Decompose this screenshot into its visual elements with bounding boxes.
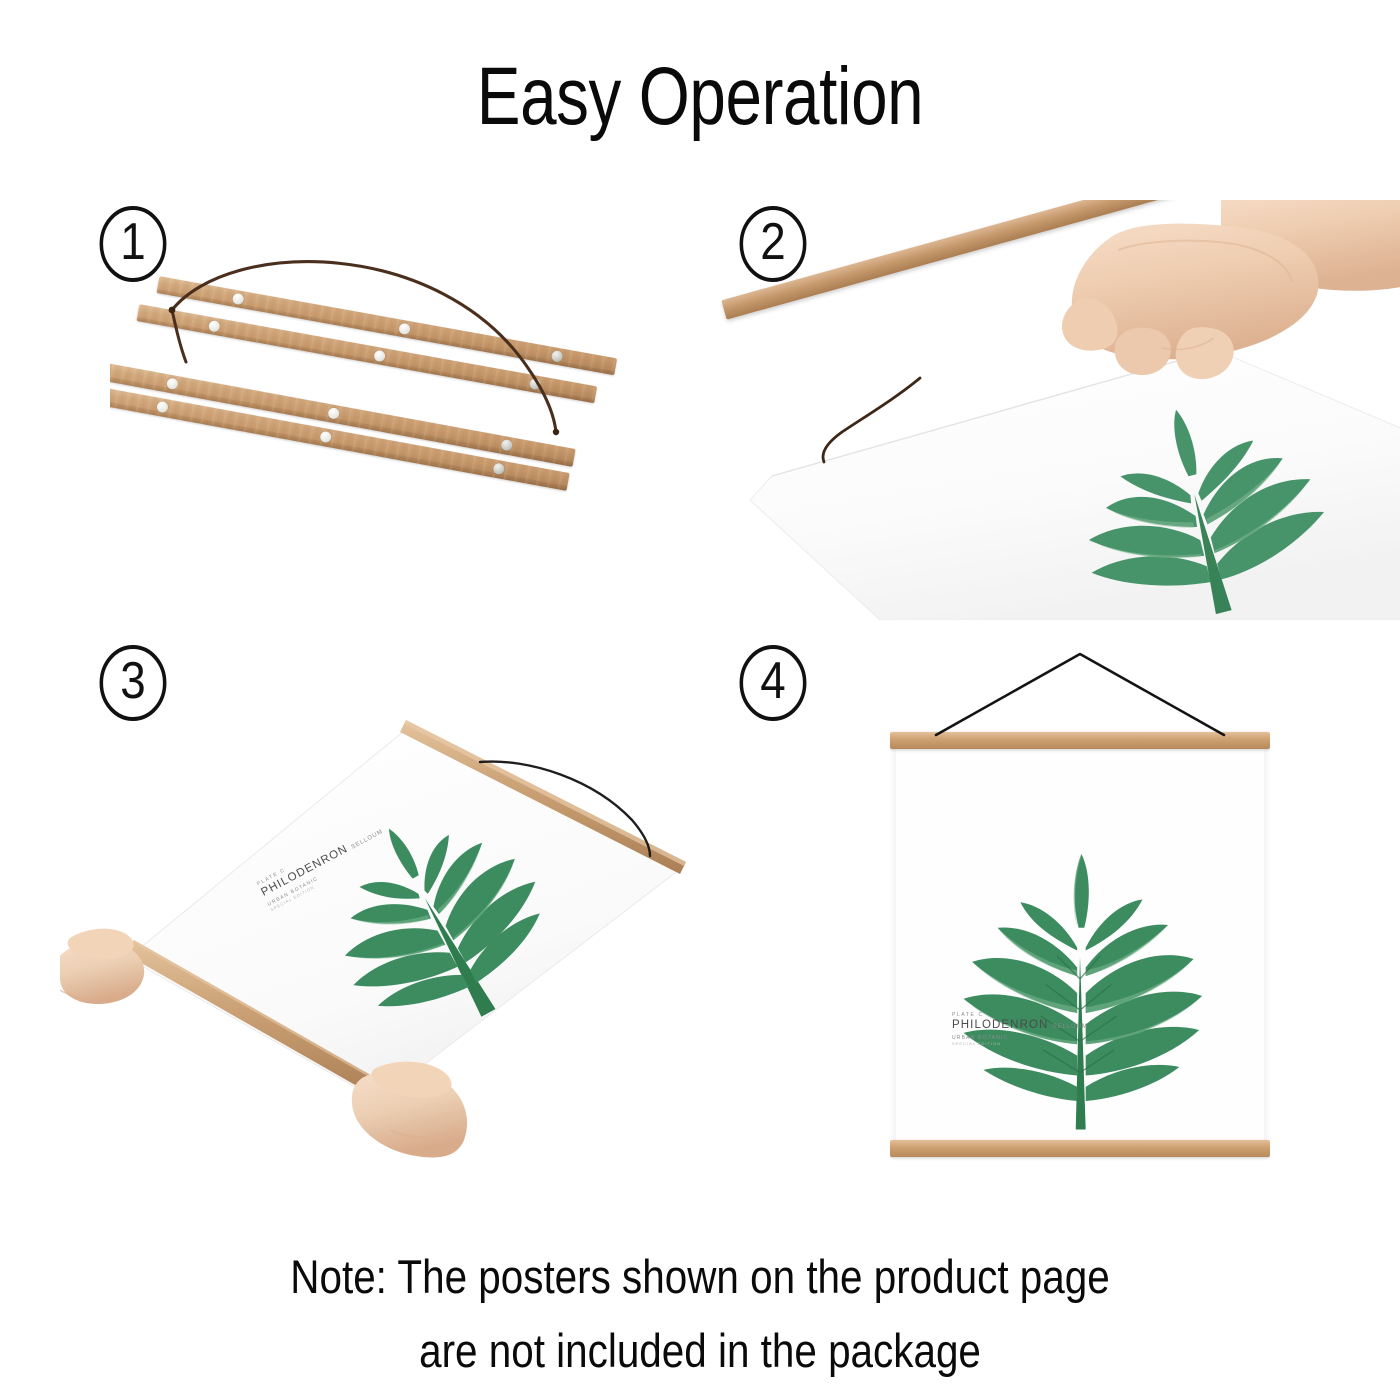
step-2-illustration (720, 200, 1400, 620)
magnet-dot (166, 377, 179, 390)
step-1-illustration (110, 250, 700, 580)
leaf-artwork (896, 746, 1264, 1144)
disclaimer-note: Note: The posters shown on the product p… (98, 1240, 1302, 1388)
magnet-dot (529, 378, 542, 391)
poster-edition: SPECIAL EDITION (952, 1041, 1088, 1046)
step-3-illustration: PLATE C PHILODENRON SELLOUM URBAN BOTANI… (60, 660, 740, 1160)
magnet-dot (373, 350, 386, 363)
magnet-dot (492, 462, 505, 475)
magnet-dot (232, 293, 245, 306)
magnet-dot (327, 407, 340, 420)
poster-species: SELLOUM (1053, 1024, 1088, 1030)
hanging-cord-icon (890, 640, 1270, 750)
magnet-dot (208, 320, 221, 333)
magnet-dot (156, 401, 169, 414)
hand-holding-bar (966, 200, 1400, 470)
step-badge-4: 4 (740, 645, 807, 721)
hand-right (352, 1062, 467, 1158)
magnet-dot (398, 322, 411, 335)
magnet-dot (500, 439, 513, 452)
magnet-dot (551, 350, 564, 363)
magnet-dot (319, 431, 332, 444)
step-4-illustration: PLATE C PHILODENRON SELLOUM URBAN BOTANI… (890, 640, 1270, 1170)
poster-name: PHILODENRON SELLOUM (952, 1018, 1088, 1032)
poster-tilted (60, 660, 740, 1160)
poster-caption: PLATE C PHILODENRON SELLOUM URBAN BOTANI… (952, 1012, 1088, 1046)
page-title: Easy Operation (140, 56, 1260, 138)
step-badge-4-label: 4 (760, 655, 785, 707)
infographic-page: Easy Operation 1 2 3 4 (0, 0, 1400, 1400)
hand-left (60, 929, 144, 1004)
disclaimer-note-line-2: are not included in the package (98, 1314, 1302, 1388)
disclaimer-note-line-1: Note: The posters shown on the product p… (98, 1240, 1302, 1314)
wood-hanger-bar-bottom (890, 1140, 1270, 1157)
